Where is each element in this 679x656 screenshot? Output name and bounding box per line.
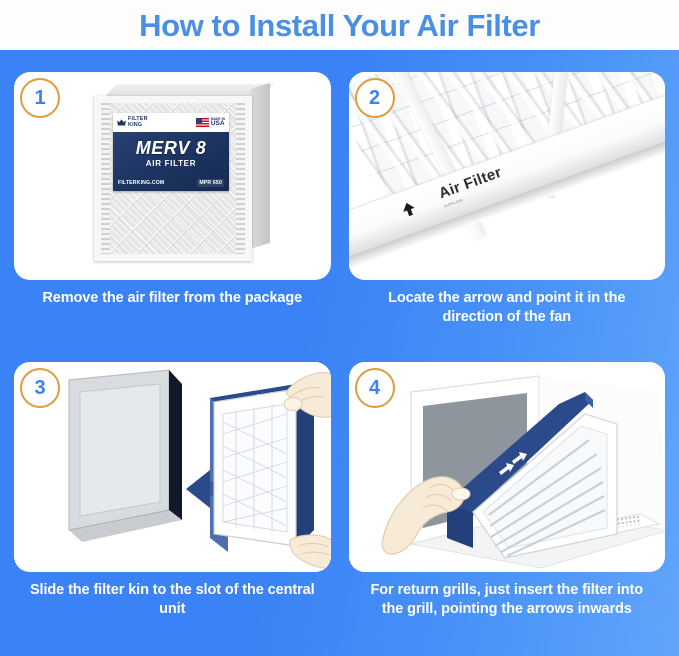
made-in-usa-text: MADE IN USA — [211, 118, 225, 128]
filter-corner-photo: Air Filter AIRFLOW — [349, 72, 666, 280]
merv-rating: MERV 8 — [113, 139, 229, 157]
step-2-image-card: 2 Air Filter — [349, 72, 666, 280]
step-3-image-card: 3 — [14, 362, 331, 572]
brand-name: FILTER KING — [128, 117, 148, 128]
step-1-image-card: 1 — [14, 72, 331, 280]
step-card-2: 2 Air Filter — [349, 72, 666, 360]
step-2-caption: Locate the arrow and point it in the dir… — [349, 280, 666, 327]
label-footer-strip: FILTERKING.COM MPR 650 — [118, 179, 224, 187]
step-card-3: 3 — [14, 362, 331, 650]
country-label: USA — [211, 120, 225, 127]
brand-line-2: KING — [128, 123, 148, 129]
step-1-number-badge: 1 — [20, 78, 60, 118]
step-4-caption: For return grills, just insert the filte… — [349, 572, 666, 619]
website-text: FILTERKING.COM — [118, 180, 164, 186]
page-title: How to Install Your Air Filter — [139, 10, 540, 41]
usa-flag-icon — [196, 118, 209, 127]
filter-front-face: FILTER KING MADE IN USA — [94, 96, 252, 261]
step-4-image-card: 4 — [349, 362, 666, 572]
filter-pleat-edge-left — [101, 103, 110, 254]
filter-pleat-edge-right — [236, 103, 245, 254]
step-2-number-badge: 2 — [355, 78, 395, 118]
hand-bottom — [290, 535, 331, 568]
step-2-illustration: Air Filter AIRFLOW — [349, 72, 666, 280]
slide-filter-into-slot-illustration — [14, 362, 331, 572]
step-card-1: 1 — [14, 72, 331, 360]
central-unit-slot — [69, 370, 182, 542]
crown-icon — [117, 119, 126, 127]
label-header-strip: FILTER KING MADE IN USA — [113, 113, 229, 132]
filter-king-logo: FILTER KING — [117, 117, 148, 128]
steps-canvas: 1 — [0, 50, 679, 656]
air-filter-product-photo: FILTER KING MADE IN USA — [94, 84, 270, 264]
step-3-caption: Slide the filter kin to the slot of the … — [14, 572, 331, 619]
made-in-usa-mark: MADE IN USA — [196, 118, 225, 128]
product-subtitle: AIR FILTER — [113, 160, 229, 168]
hand-top — [284, 373, 331, 418]
step-4-illustration — [349, 362, 666, 572]
step-1-illustration: FILTER KING MADE IN USA — [14, 72, 331, 280]
filter-side-edge — [250, 83, 270, 249]
rating-code-badge: MPR 650 — [197, 179, 224, 187]
step-1-caption: Remove the air filter from the package — [14, 280, 331, 308]
step-4-number-badge: 4 — [355, 368, 395, 408]
page-header: How to Install Your Air Filter — [0, 0, 679, 50]
step-3-illustration — [14, 362, 331, 572]
product-label: FILTER KING MADE IN USA — [113, 113, 229, 191]
return-grill-insert-illustration — [349, 362, 666, 572]
step-card-4: 4 — [349, 362, 666, 650]
step-3-number-badge: 3 — [20, 368, 60, 408]
steps-grid: 1 — [14, 72, 665, 650]
